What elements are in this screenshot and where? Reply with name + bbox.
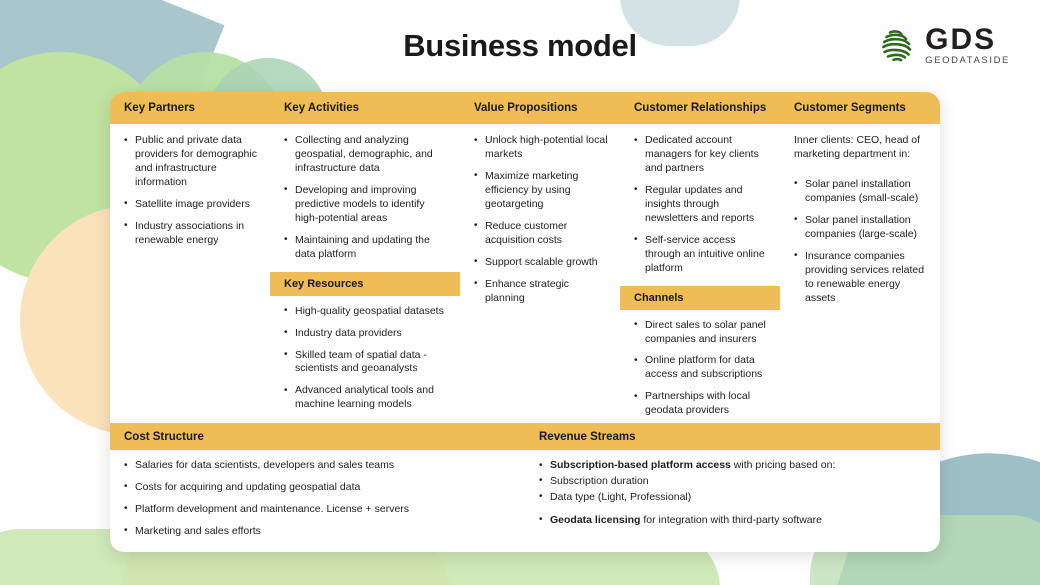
column-header-key-partners: Key Partners bbox=[110, 92, 270, 124]
column-header-cost-structure: Cost Structure bbox=[110, 423, 525, 450]
list-item: Self-service access through an intuitive… bbox=[634, 234, 768, 276]
list-item: Salaries for data scientists, developers… bbox=[124, 459, 511, 473]
logo-subtitle: GEODATASIDE bbox=[925, 56, 1010, 66]
list-item: Industry associations in renewable energ… bbox=[124, 220, 258, 248]
revenue-item-rest: for integration with third-party softwar… bbox=[640, 514, 822, 526]
column-cost-structure: Salaries for data scientists, developers… bbox=[110, 459, 525, 552]
list-item: Advanced analytical tools and machine le… bbox=[284, 384, 448, 412]
column-header-key-activities: Key Activities bbox=[270, 92, 460, 124]
column-revenue-streams: Subscription-based platform access with … bbox=[525, 459, 940, 552]
column-customer-relationships: Dedicated account managers for key clien… bbox=[620, 124, 780, 423]
logo-text-block: GDS GEODATASIDE bbox=[925, 25, 1010, 66]
canvas-columns-row: Public and private data providers for de… bbox=[110, 124, 940, 423]
column-value-propositions: Unlock high-potential local markets Maxi… bbox=[460, 124, 620, 423]
list-item: Reduce customer acquisition costs bbox=[474, 220, 608, 248]
canvas-bottom-row: Salaries for data scientists, developers… bbox=[110, 450, 940, 552]
list-item: Public and private data providers for de… bbox=[124, 134, 258, 190]
list-item: Developing and improving predictive mode… bbox=[284, 184, 448, 226]
list-item: Unlock high-potential local markets bbox=[474, 134, 608, 162]
sub-header-channels: Channels bbox=[620, 286, 780, 310]
revenue-streams-list: Subscription-based platform access with … bbox=[539, 459, 926, 528]
customer-segments-intro: Inner clients: CEO, head of marketing de… bbox=[794, 134, 928, 162]
column-header-customer-segments: Customer Segments bbox=[780, 92, 940, 124]
list-item: Regular updates and insights through new… bbox=[634, 184, 768, 226]
revenue-item-bold: Geodata licensing bbox=[550, 514, 640, 526]
customer-relationships-list: Dedicated account managers for key clien… bbox=[634, 134, 768, 276]
list-item: Geodata licensing for integration with t… bbox=[539, 514, 926, 528]
key-partners-list: Public and private data providers for de… bbox=[124, 134, 258, 248]
list-item: Support scalable growth bbox=[474, 256, 608, 270]
revenue-item-rest: Data type (Light, Professional) bbox=[550, 491, 691, 503]
list-item: Subscription duration bbox=[539, 475, 926, 489]
list-item: Solar panel installation companies (larg… bbox=[794, 214, 928, 242]
globe-stripes-icon bbox=[876, 24, 918, 66]
business-model-canvas: Key Partners Key Activities Value Propos… bbox=[110, 92, 940, 552]
column-customer-segments: Inner clients: CEO, head of marketing de… bbox=[780, 124, 940, 423]
column-header-value-propositions: Value Propositions bbox=[460, 92, 620, 124]
list-item: Direct sales to solar panel companies an… bbox=[634, 319, 768, 347]
list-item: Insurance companies providing services r… bbox=[794, 250, 928, 306]
key-activities-list: Collecting and analyzing geospatial, dem… bbox=[284, 134, 448, 262]
brand-logo: GDS GEODATASIDE bbox=[876, 24, 1010, 66]
key-resources-list: High-quality geospatial datasets Industr… bbox=[284, 305, 448, 413]
page-title: Business model bbox=[403, 28, 637, 64]
list-item: Satellite image providers bbox=[124, 198, 258, 212]
list-item: Marketing and sales efforts bbox=[124, 525, 511, 539]
value-propositions-list: Unlock high-potential local markets Maxi… bbox=[474, 134, 608, 306]
list-item: Solar panel installation companies (smal… bbox=[794, 178, 928, 206]
canvas-bottom-header-band: Cost Structure Revenue Streams bbox=[110, 423, 940, 450]
list-item: Online platform for data access and subs… bbox=[634, 354, 768, 382]
canvas-header-band: Key Partners Key Activities Value Propos… bbox=[110, 92, 940, 124]
revenue-item-bold: Subscription-based platform access bbox=[550, 459, 731, 471]
column-header-revenue-streams: Revenue Streams bbox=[525, 423, 940, 450]
channels-list: Direct sales to solar panel companies an… bbox=[634, 319, 768, 419]
column-key-activities: Collecting and analyzing geospatial, dem… bbox=[270, 124, 460, 423]
list-item: Costs for acquiring and updating geospat… bbox=[124, 481, 511, 495]
logo-wordmark: GDS bbox=[925, 25, 1010, 55]
revenue-item-rest: with pricing based on: bbox=[731, 459, 835, 471]
column-header-customer-relationships: Customer Relationships bbox=[620, 92, 780, 124]
list-item: Subscription-based platform access with … bbox=[539, 459, 926, 473]
list-item: Maximize marketing efficiency by using g… bbox=[474, 170, 608, 212]
list-item: Platform development and maintenance. Li… bbox=[124, 503, 511, 517]
list-item: Enhance strategic planning bbox=[474, 278, 608, 306]
cost-structure-list: Salaries for data scientists, developers… bbox=[124, 459, 511, 539]
sub-header-key-resources: Key Resources bbox=[270, 272, 460, 296]
list-item: Collecting and analyzing geospatial, dem… bbox=[284, 134, 448, 176]
list-item: Partnerships with local geodata provider… bbox=[634, 390, 768, 418]
revenue-item-rest: Subscription duration bbox=[550, 475, 649, 487]
list-item: Maintaining and updating the data platfo… bbox=[284, 234, 448, 262]
list-item: Skilled team of spatial data - scientist… bbox=[284, 349, 448, 377]
list-item: Dedicated account managers for key clien… bbox=[634, 134, 768, 176]
list-item: Data type (Light, Professional) bbox=[539, 491, 926, 505]
list-item: Industry data providers bbox=[284, 327, 448, 341]
customer-segments-list: Solar panel installation companies (smal… bbox=[794, 178, 928, 306]
list-item: High-quality geospatial datasets bbox=[284, 305, 448, 319]
column-key-partners: Public and private data providers for de… bbox=[110, 124, 270, 423]
